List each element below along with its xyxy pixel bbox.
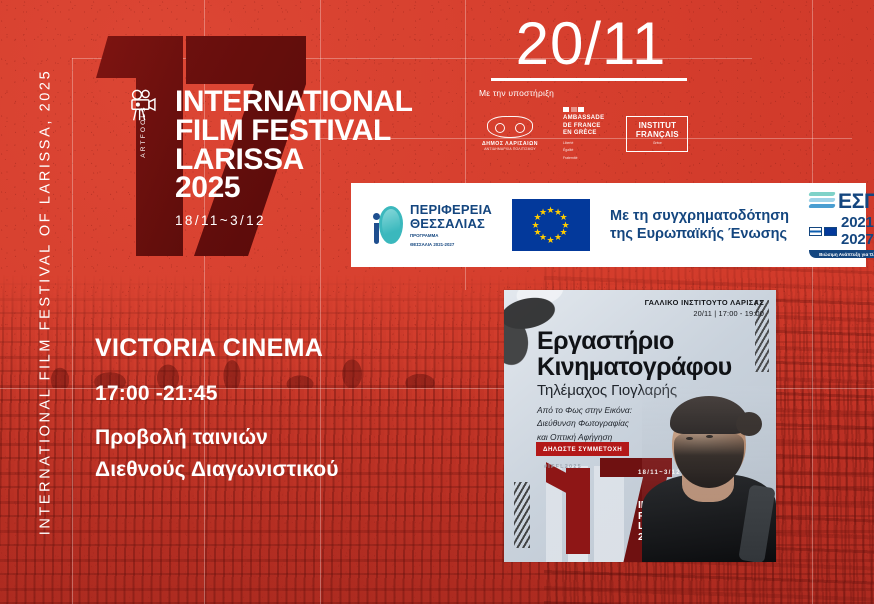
dimos-subtitle: ΑΝΤΙΔΗΜΑΡΧΙΑ ΠΟΛΙΤΙΣΜΟΥ [479,147,541,151]
festival-title-line1: INTERNATIONAL [175,88,413,117]
event-description-line2: Διεθνούς Διαγωνιστικού [95,458,339,482]
ambassade-line1: AMBASSADE [563,115,604,123]
logo-periferia-thessalias: ΠΕΡΙΦΕΡΕΙΑ ΘΕΣΣΑΛΙΑΣ ΠΡΟΓΡΑΜΜΑ ΘΕΣΣΑΛΙΑ … [373,203,492,247]
ambassade-motto1: Liberté [563,141,604,146]
institut-sub: Grèce [653,141,662,145]
ambassade-motto3: Fraternité [563,156,604,161]
workshop-subtitle-line1: Από το Φως στην Εικόνα: [537,404,632,417]
event-date-value: 20/11 [495,14,687,74]
workshop-datetime: 20/11 | 17:00 - 19:00 [645,309,764,318]
workshop-venue-block: ΓΑΛΛΙΚΟ ΙΝΣΤΙΤΟΥΤΟ ΛΑΡΙΣΑΣ 20/11 | 17:00… [645,298,764,318]
espa-waves-icon [809,192,835,212]
periferia-line2: ΘΕΣΣΑΛΙΑΣ [410,217,492,231]
ambassade-motto2: Égalité [563,148,604,153]
logo-institut-francais: INSTITUT FRANÇAIS Grèce [626,116,688,152]
institut-line2: FRANÇAIS [636,131,679,139]
event-date-badge: 20/11 [495,14,687,81]
espa-tagline: Βιώσιμη Ανάπτυξη για Όλους [809,250,874,258]
eu-star-icon: ★ [547,236,555,245]
logo-espa: ΕΣΠΑ 2021-2027 Βιώσιμη Ανάπτυξη για Όλου… [809,192,874,258]
workshop-subtitle: Από το Φως στην Εικόνα: Διεύθυνση Φωτογρ… [537,404,632,444]
periferia-glyph-icon [373,204,403,246]
event-poster: INTERNATIONAL FILM FESTIVAL OF LARISSA, … [0,0,874,604]
workshop-poster-card[interactable]: ΓΑΛΛΙΚΟ ΙΝΣΤΙΤΟΥΤΟ ΛΑΡΙΣΑΣ 20/11 | 17:00… [504,290,776,562]
vertical-festival-title-text: INTERNATIONAL FILM FESTIVAL OF LARISSA, … [37,69,53,536]
periferia-line1: ΠΕΡΙΦΕΡΕΙΑ [410,203,492,217]
artfools-wordmark: ARTFOOLS [140,105,147,158]
supporters-caption: Με την υποστήριξη [479,88,688,98]
periferia-sub2: ΘΕΣΣΑΛΙΑ 2021-2027 [410,242,492,248]
eu-star-icon: ★ [539,208,547,217]
workshop-logo-numeral-1 [566,468,590,554]
logo-ambassade-de-france: AMBASSADE DE FRANCE EN GRÈCE Liberté Éga… [563,107,604,160]
french-flag-icon [563,107,604,112]
european-union-flag-icon: ★★★★★★★★★★★★ [512,199,590,251]
workshop-hashtag: #IFFL2025 [544,464,582,470]
eu-cofunding-line2: της Ευρωπαϊκής Ένωσης [610,225,789,243]
eu-star-icon: ★ [554,233,562,242]
event-date-underline [491,78,687,81]
workshop-venue: ΓΑΛΛΙΚΟ ΙΝΣΤΙΤΟΥΤΟ ΛΑΡΙΣΑΣ [645,298,764,307]
vertical-festival-title: INTERNATIONAL FILM FESTIVAL OF LARISSA, … [30,0,60,604]
dimos-emblem-icon [487,116,533,138]
event-venue: VICTORIA CINEMA [95,335,339,363]
workshop-title-line2: Κινηματογράφου [537,354,732,380]
eu-cofunding-text: Με τη συγχρηματοδότηση της Ευρωπαϊκής Έν… [610,207,789,243]
artfools-logo: ARTFOOLS [122,88,164,135]
frame-rule-vertical-1 [72,58,73,604]
espa-funding-banner: ΠΕΡΙΦΕΡΕΙΑ ΘΕΣΣΑΛΙΑΣ ΠΡΟΓΡΑΜΜΑ ΘΕΣΣΑΛΙΑ … [351,183,866,267]
workshop-subtitle-line2: Διεύθυνση Φωτογραφίας [537,417,632,430]
workshop-card-hatch-left [514,482,530,548]
supporters-logo-row: ΔΗΜΟΣ ΛΑΡΙΣΑΙΩΝ ΑΝΤΙΔΗΜΑΡΧΙΑ ΠΟΛΙΤΙΣΜΟΥ … [479,107,688,160]
espa-mini-flags-icon [809,227,837,236]
festival-title-line3: LARISSA [175,146,413,175]
workshop-title: Εργαστήριο Κινηματογράφου [537,328,732,380]
espa-name: ΕΣΠΑ [838,192,874,212]
frame-rule-vertical-5 [812,0,813,604]
workshop-speaker-photo [642,386,776,562]
eu-cofunding-line1: Με τη συγχρηματοδότηση [610,207,789,225]
event-description-line1: Προβολή ταινιών [95,426,339,450]
ambassade-line2: DE FRANCE [563,123,604,131]
espa-years: 2021-2027 [841,214,874,248]
event-details-block: VICTORIA CINEMA 17:00 -21:45 Προβολή ται… [95,335,339,482]
festival-title-line2: FILM FESTIVAL [175,117,413,146]
supporters-block: Με την υποστήριξη ΔΗΜΟΣ ΛΑΡΙΣΑΙΩΝ ΑΝΤΙΔΗ… [479,88,688,160]
periferia-sub1: ΠΡΟΓΡΑΜΜΑ [410,233,492,239]
ambassade-line3: EN GRÈCE [563,130,604,138]
workshop-title-line1: Εργαστήριο [537,328,732,354]
logo-dimos-larisaion: ΔΗΜΟΣ ΛΑΡΙΣΑΙΩΝ ΑΝΤΙΔΗΜΑΡΧΙΑ ΠΟΛΙΤΙΣΜΟΥ [479,116,541,151]
event-time: 17:00 -21:45 [95,382,339,406]
